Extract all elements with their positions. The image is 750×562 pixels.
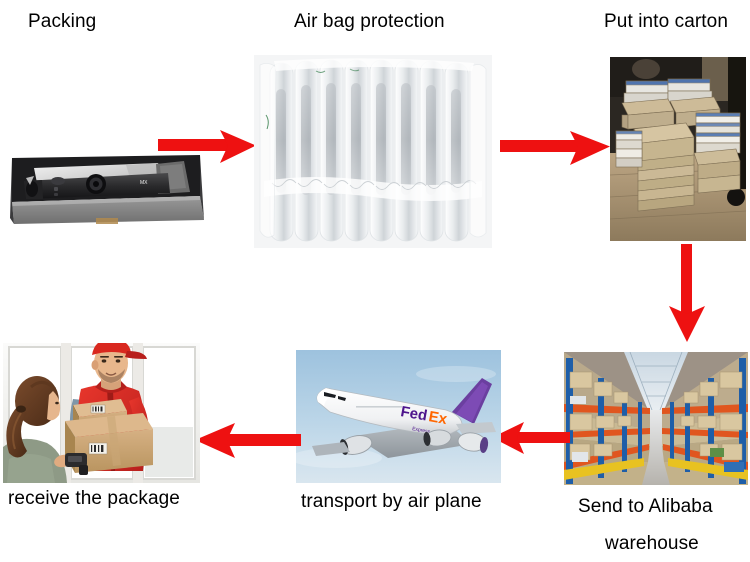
step-label-receive-the-package: receive the package bbox=[8, 488, 180, 510]
step-label-air-bag-protection: Air bag protection bbox=[294, 11, 445, 33]
step-label-packing: Packing bbox=[28, 11, 96, 33]
process-flow-infographic: Packing Air bag protection Put into cart… bbox=[0, 0, 750, 562]
photo-alibaba-warehouse bbox=[564, 352, 748, 485]
photo-receive-package bbox=[3, 343, 200, 483]
arrow-carton-to-warehouse bbox=[666, 244, 708, 342]
photo-fedex-airplane: Fed Ex Express bbox=[296, 350, 501, 483]
arrow-plane-to-receive bbox=[195, 420, 301, 462]
svg-text:Ex: Ex bbox=[427, 408, 449, 428]
svg-text:MX: MX bbox=[140, 180, 148, 186]
photo-air-bag-protection bbox=[254, 55, 492, 248]
step-label-transport-by-air-plane: transport by air plane bbox=[301, 491, 482, 513]
arrow-warehouse-to-plane bbox=[492, 420, 570, 458]
arrow-airbag-to-carton bbox=[500, 128, 610, 168]
photo-cartons-stacked bbox=[610, 57, 746, 241]
step-label-put-into-carton: Put into carton bbox=[604, 11, 728, 33]
step-label-send-to-alibaba-line2: warehouse bbox=[605, 533, 699, 555]
step-label-send-to-alibaba-line1: Send to Alibaba bbox=[578, 496, 713, 518]
arrow-packing-to-airbag bbox=[158, 128, 256, 166]
